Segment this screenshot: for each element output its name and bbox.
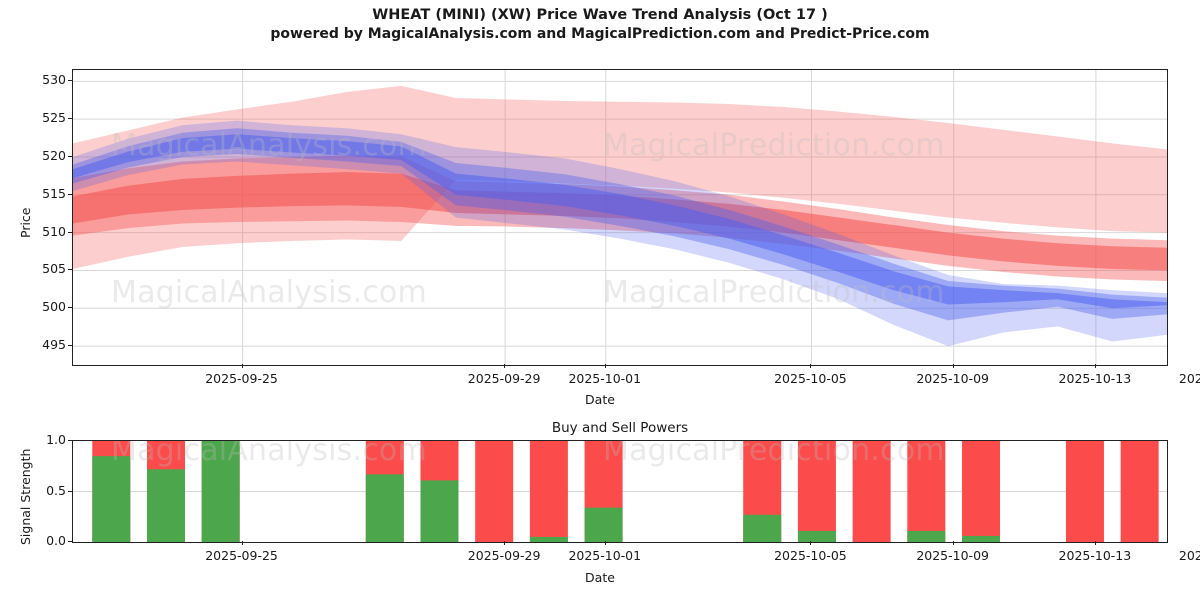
buy-power-bar: [530, 537, 568, 542]
price-x-tick-mark: [242, 364, 243, 368]
signal-y-tick-mark: [68, 491, 72, 492]
signal-x-tick: 2025-10-09: [916, 548, 989, 563]
buy-sell-powers-plot: MagicalAnalysis.com MagicalPrediction.co…: [72, 440, 1168, 543]
price-y-tick-mark: [68, 345, 72, 346]
price-y-tick-mark: [68, 80, 72, 81]
buy-power-bar: [743, 515, 781, 542]
price-x-tick-mark: [810, 364, 811, 368]
sell-power-bar: [798, 441, 836, 542]
price-y-tick-mark: [68, 232, 72, 233]
signal-x-tick-mark: [605, 541, 606, 545]
price-x-tick-mark: [953, 364, 954, 368]
signal-x-tick-mark: [242, 541, 243, 545]
sell-power-bar: [907, 441, 945, 542]
signal-x-tick-mark: [953, 541, 954, 545]
buy-power-bar: [366, 474, 404, 542]
buy-power-bar: [585, 508, 623, 542]
price-x-tick: 2025-10-09: [916, 371, 989, 386]
signal-x-tick: 2025-10-05: [774, 548, 847, 563]
buy-power-bar: [907, 531, 945, 542]
signal-x-tick: 2025-09-25: [205, 548, 278, 563]
title-line-2: powered by MagicalAnalysis.com and Magic…: [0, 25, 1200, 44]
buy-power-bar: [962, 536, 1000, 542]
title-line-1: WHEAT (MINI) (XW) Price Wave Trend Analy…: [0, 6, 1200, 25]
price-y-tick-mark: [68, 269, 72, 270]
price-x-axis-title: Date: [585, 392, 615, 407]
signal-y-axis-title: Signal Strength: [18, 449, 33, 545]
price-x-tick-mark: [1095, 364, 1096, 368]
signal-x-axis-title: Date: [585, 570, 615, 585]
signal-x-tick: 2025-10-13: [1059, 548, 1132, 563]
signal-plot-canvas: MagicalAnalysis.com MagicalPrediction.co…: [73, 441, 1167, 542]
price-x-tick-mark: [504, 364, 505, 368]
price-y-tick: 515: [22, 186, 66, 201]
sell-power-bar: [853, 441, 891, 542]
buy-power-bar: [147, 469, 185, 542]
price-y-tick: 505: [22, 261, 66, 276]
price-bands-svg: [73, 70, 1167, 365]
price-y-tick: 495: [22, 337, 66, 352]
price-x-tick: 2025-09-29: [468, 371, 541, 386]
price-x-tick: 2025-09-25: [205, 371, 278, 386]
signal-bars-svg: [73, 441, 1167, 542]
price-y-tick-mark: [68, 118, 72, 119]
buy-power-bar: [92, 456, 130, 542]
signal-x-tick-mark: [1095, 541, 1096, 545]
price-wave-plot: MagicalAnalysis.com MagicalPrediction.co…: [72, 69, 1168, 366]
price-y-tick-mark: [68, 194, 72, 195]
signal-x-tick: 2025-10-17: [1179, 548, 1200, 563]
price-x-tick: 2025-10-17: [1179, 371, 1200, 386]
sell-power-bar: [1121, 441, 1159, 542]
chart-page: WHEAT (MINI) (XW) Price Wave Trend Analy…: [0, 0, 1200, 600]
signal-x-tick-mark: [810, 541, 811, 545]
signal-x-tick: 2025-10-01: [568, 548, 641, 563]
sell-power-bar: [1066, 441, 1104, 542]
signal-x-tick: 2025-09-29: [468, 548, 541, 563]
sell-power-bar: [962, 441, 1000, 542]
price-x-tick: 2025-10-01: [568, 371, 641, 386]
buy-power-bar: [202, 441, 240, 542]
sell-power-bar: [530, 441, 568, 542]
signal-plot-title: Buy and Sell Powers: [552, 420, 688, 436]
signal-y-tick-mark: [68, 541, 72, 542]
price-y-axis-title: Price: [18, 208, 33, 239]
price-x-tick-mark: [605, 364, 606, 368]
buy-power-bar: [798, 531, 836, 542]
price-y-tick-mark: [68, 156, 72, 157]
price-y-tick: 500: [22, 299, 66, 314]
price-y-tick: 520: [22, 148, 66, 163]
sell-power-bar: [475, 441, 513, 542]
buy-power-bar: [420, 480, 458, 542]
figure-title: WHEAT (MINI) (XW) Price Wave Trend Analy…: [0, 6, 1200, 44]
price-x-tick: 2025-10-05: [774, 371, 847, 386]
signal-y-tick-mark: [68, 440, 72, 441]
price-y-tick: 530: [22, 72, 66, 87]
signal-x-tick-mark: [504, 541, 505, 545]
signal-y-tick: 1.0: [22, 432, 66, 447]
price-y-tick-mark: [68, 307, 72, 308]
price-x-tick: 2025-10-13: [1059, 371, 1132, 386]
price-plot-canvas: MagicalAnalysis.com MagicalPrediction.co…: [73, 70, 1167, 365]
price-y-tick: 525: [22, 110, 66, 125]
